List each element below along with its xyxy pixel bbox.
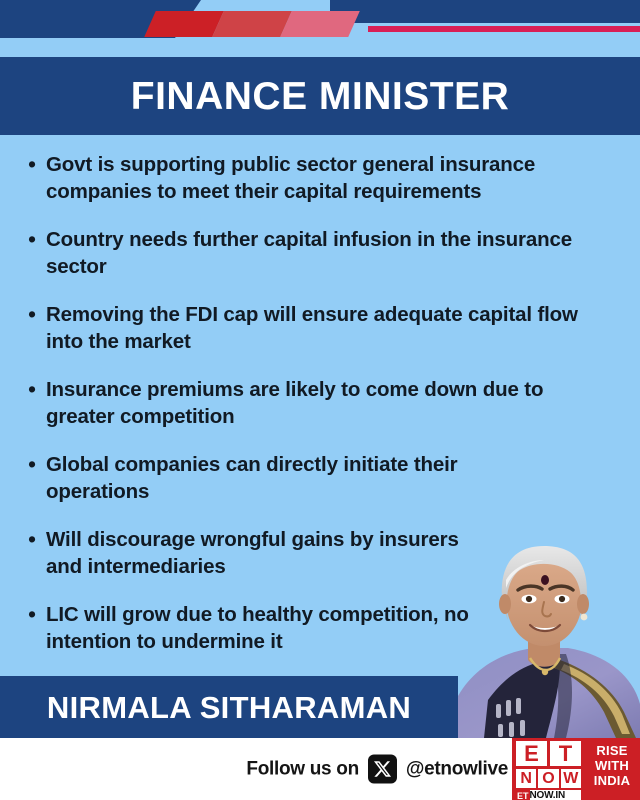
list-item: • Removing the FDI cap will ensure adequ… bbox=[28, 301, 616, 355]
person-name: NIRMALA SITHARAMAN bbox=[47, 692, 411, 723]
etnow-letter-e: E bbox=[516, 741, 547, 766]
tagline-line-1: RISE bbox=[596, 744, 627, 758]
x-twitter-icon[interactable] bbox=[368, 755, 397, 784]
bullet-list: • Govt is supporting public sector gener… bbox=[0, 141, 640, 672]
list-item-text: Global companies can directly initiate t… bbox=[46, 451, 498, 505]
bullet-marker-icon: • bbox=[28, 601, 46, 628]
list-item: • Global companies can directly initiate… bbox=[28, 451, 616, 505]
bullet-marker-icon: • bbox=[28, 151, 46, 178]
list-item: • Govt is supporting public sector gener… bbox=[28, 151, 616, 205]
etnow-now-row: N O W bbox=[516, 769, 581, 788]
bullet-marker-icon: • bbox=[28, 526, 46, 553]
top-decorative-bar bbox=[0, 0, 640, 52]
list-item: • Will discourage wrongful gains by insu… bbox=[28, 526, 616, 580]
list-item-text: Govt is supporting public sector general… bbox=[46, 151, 604, 205]
etnow-logo[interactable]: E T N O W ET NOW.IN RISE WITH INDIA bbox=[512, 738, 640, 800]
list-item-text: LIC will grow due to healthy competition… bbox=[46, 601, 498, 655]
bullet-marker-icon: • bbox=[28, 226, 46, 253]
title-banner: FINANCE MINISTER bbox=[0, 57, 640, 135]
top-bar-navy-right-shape bbox=[330, 0, 640, 23]
etnow-url-tag: ET bbox=[516, 790, 530, 800]
footer-bar: Follow us on @etnowlive E T N O W bbox=[0, 738, 640, 800]
etnow-letter-o: O bbox=[538, 769, 558, 788]
bullet-marker-icon: • bbox=[28, 376, 46, 403]
tagline-line-3: INDIA bbox=[594, 774, 630, 788]
etnow-logo-mark: E T N O W ET NOW.IN bbox=[512, 738, 584, 800]
list-item: • Country needs further capital infusion… bbox=[28, 226, 616, 280]
etnow-et-row: E T bbox=[516, 741, 581, 766]
bullet-marker-icon: • bbox=[28, 451, 46, 478]
list-item-text: Country needs further capital infusion i… bbox=[46, 226, 604, 280]
social-handle[interactable]: @etnowlive bbox=[406, 760, 508, 779]
etnow-website-url[interactable]: ET NOW.IN bbox=[516, 790, 581, 800]
etnow-url-rest: NOW.IN bbox=[530, 790, 565, 800]
list-item-text: Will discourage wrongful gains by insure… bbox=[46, 526, 498, 580]
page-title: FINANCE MINISTER bbox=[131, 77, 510, 116]
etnow-letter-t: T bbox=[550, 741, 581, 766]
etnow-letter-n: N bbox=[516, 769, 536, 788]
news-card: FINANCE MINISTER • Govt is supporting pu… bbox=[0, 0, 640, 800]
bullet-marker-icon: • bbox=[28, 301, 46, 328]
etnow-letter-w: W bbox=[561, 769, 581, 788]
tagline-line-2: WITH bbox=[595, 759, 629, 773]
name-banner: NIRMALA SITHARAMAN bbox=[0, 676, 458, 738]
list-item: • LIC will grow due to healthy competiti… bbox=[28, 601, 616, 655]
list-item-text: Removing the FDI cap will ensure adequat… bbox=[46, 301, 604, 355]
accent-stripe-red bbox=[144, 11, 224, 37]
list-item-text: Insurance premiums are likely to come do… bbox=[46, 376, 604, 430]
list-item: • Insurance premiums are likely to come … bbox=[28, 376, 616, 430]
etnow-tagline: RISE WITH INDIA bbox=[584, 738, 640, 800]
follow-us-label: Follow us on bbox=[246, 760, 359, 779]
accent-stripe-mid-red bbox=[212, 11, 292, 37]
accent-stripe-pink bbox=[280, 11, 360, 37]
follow-us-group: Follow us on @etnowlive bbox=[246, 755, 508, 784]
accent-red-rule bbox=[368, 26, 640, 32]
